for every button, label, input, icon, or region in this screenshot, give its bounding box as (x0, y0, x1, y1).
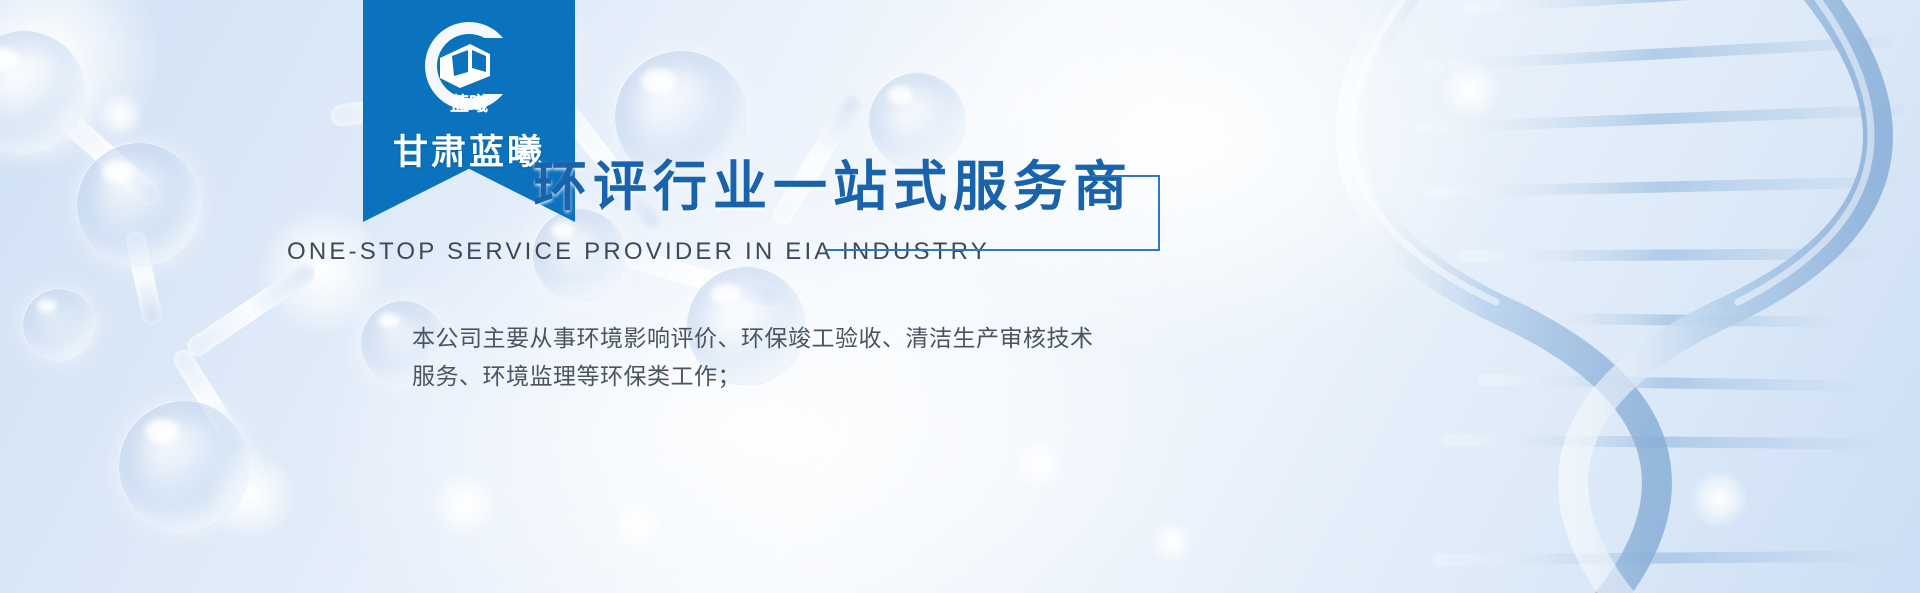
intro-paragraph: 本公司主要从事环境影响评价、环保竣工验收、清洁生产审核技术 服务、环境监理等环保… (412, 320, 1192, 396)
molecule-sphere (118, 400, 250, 532)
accent-rule-horizontal (825, 249, 1160, 251)
intro-paragraph-line-2: 服务、环境监理等环保类工作； (412, 358, 1192, 396)
dna-helix-decoration (1300, 0, 1920, 593)
light-bloom (1150, 520, 1194, 564)
page-title: 环评行业一站式服务商 (533, 142, 1133, 221)
light-bloom (430, 470, 500, 540)
light-bloom (1012, 438, 1064, 490)
accent-rule-top (1092, 175, 1160, 177)
light-bloom (98, 92, 144, 138)
page-subtitle: ONE-STOP SERVICE PROVIDER IN EIA INDUSTR… (287, 238, 990, 266)
molecule-bond (183, 260, 319, 360)
light-bloom (610, 498, 665, 553)
intro-paragraph-line-1: 本公司主要从事环境影响评价、环保竣工验收、清洁生产审核技术 (412, 320, 1192, 358)
hero-banner: 蓝曦 甘肃蓝曦 环评行业一站式服务商 ONE-STOP SERVICE PROV… (0, 0, 1920, 593)
company-emblem-icon: 蓝曦 (398, 14, 540, 118)
molecule-sphere (76, 142, 202, 268)
logo-inner-text: 蓝曦 (450, 92, 488, 115)
molecule-sphere (22, 288, 96, 362)
accent-rule-vertical (1158, 175, 1160, 251)
